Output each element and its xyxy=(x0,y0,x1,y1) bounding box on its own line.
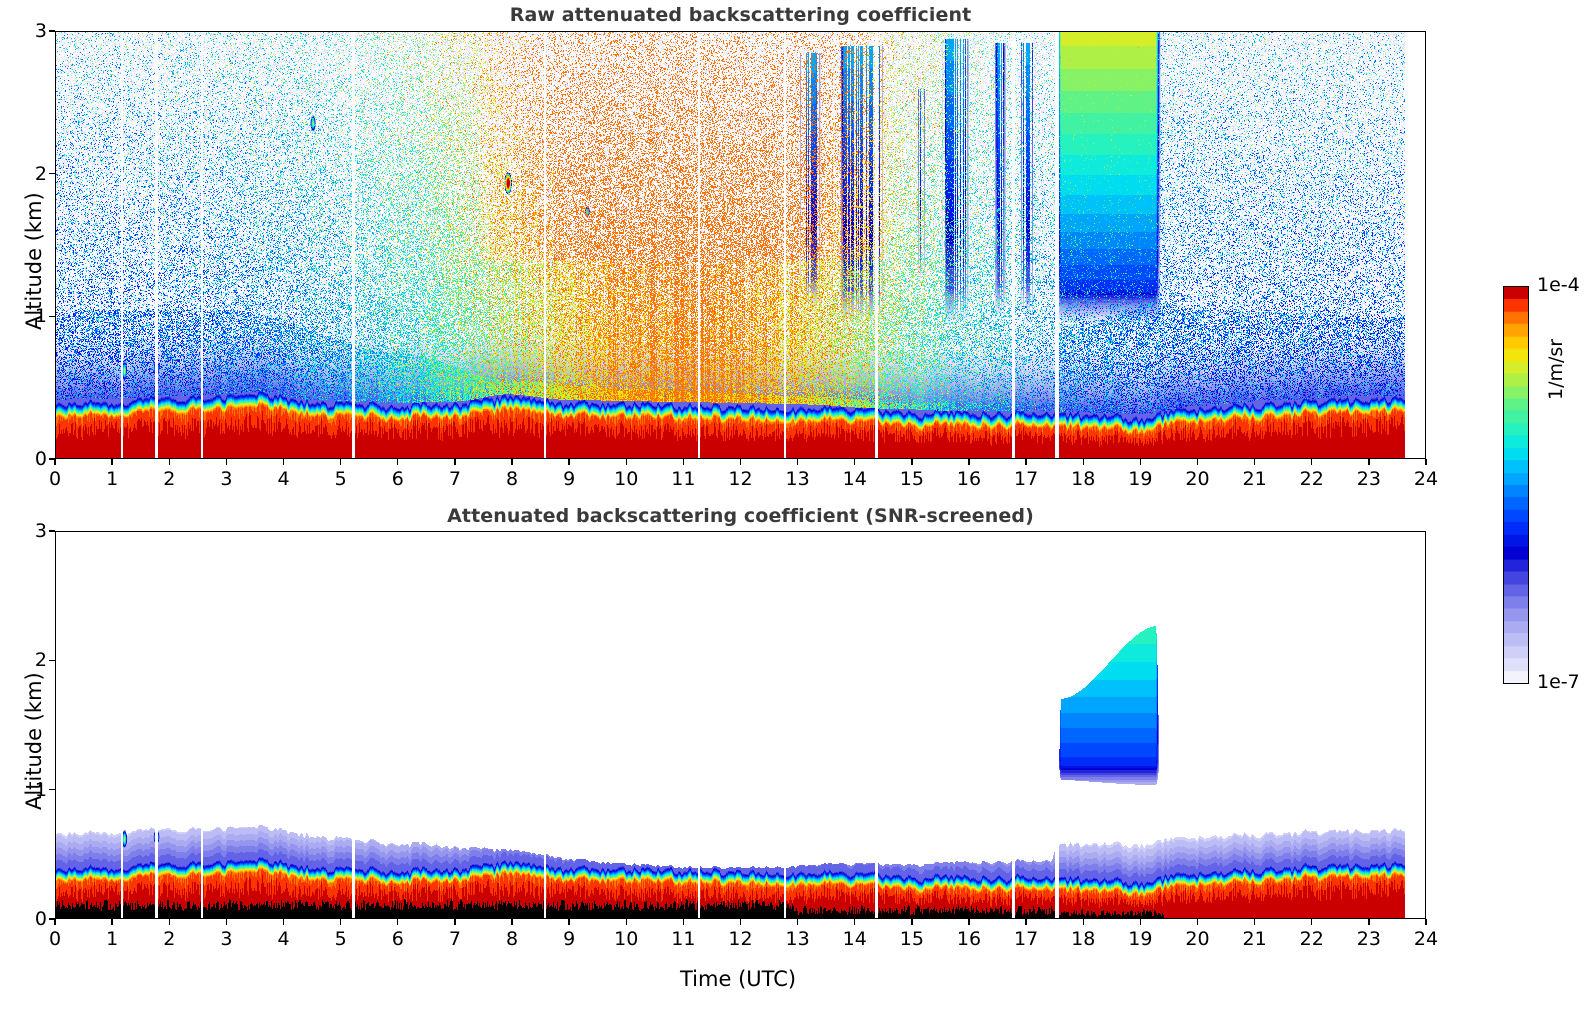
x-tick xyxy=(169,919,170,925)
y-tick-label: 2 xyxy=(17,649,47,671)
x-tick xyxy=(454,919,455,925)
y-tick xyxy=(49,530,55,531)
x-tick-label: 12 xyxy=(728,928,752,950)
x-tick xyxy=(1425,919,1426,925)
x-tick xyxy=(226,919,227,925)
colorbar-title: 1/m/sr xyxy=(1545,339,1567,400)
x-tick-label: 22 xyxy=(1300,928,1324,950)
x-tick xyxy=(968,919,969,925)
x-tick-label: 12 xyxy=(728,468,752,490)
x-tick xyxy=(169,459,170,465)
x-tick-label: 20 xyxy=(1185,928,1209,950)
colorbar-min-label: 1e-7 xyxy=(1537,671,1580,693)
x-tick xyxy=(1197,459,1198,465)
panel-title-screened: Attenuated backscattering coefficient (S… xyxy=(55,505,1426,527)
x-tick-label: 7 xyxy=(449,928,461,950)
x-tick-label: 10 xyxy=(614,928,638,950)
x-tick-label: 8 xyxy=(506,468,518,490)
x-tick-label: 0 xyxy=(49,928,61,950)
x-tick xyxy=(283,459,284,465)
x-tick xyxy=(1425,459,1426,465)
x-tick-label: 22 xyxy=(1300,468,1324,490)
plot-area-screened[interactable] xyxy=(55,531,1426,919)
y-tick xyxy=(49,30,55,31)
x-tick xyxy=(111,919,112,925)
x-tick-label: 3 xyxy=(220,928,232,950)
x-tick xyxy=(511,459,512,465)
x-tick-label: 4 xyxy=(277,928,289,950)
x-tick-label: 15 xyxy=(900,928,924,950)
x-tick xyxy=(1197,919,1198,925)
y-axis-label-screened: Altitude (km) xyxy=(22,672,46,810)
x-tick-label: 6 xyxy=(392,468,404,490)
x-tick xyxy=(911,919,912,925)
x-tick-label: 21 xyxy=(1243,468,1267,490)
figure-canvas: Raw attenuated backscattering coefficien… xyxy=(0,0,1595,1020)
x-axis-label: Time (UTC) xyxy=(680,967,796,991)
x-tick-label: 18 xyxy=(1071,928,1095,950)
x-tick-label: 16 xyxy=(957,928,981,950)
x-tick xyxy=(1254,459,1255,465)
x-tick xyxy=(1311,459,1312,465)
x-tick-label: 17 xyxy=(1014,928,1038,950)
x-tick xyxy=(340,919,341,925)
x-tick-label: 13 xyxy=(786,468,810,490)
colorbar[interactable]: 1e-4 1e-7 xyxy=(1503,286,1529,684)
x-tick xyxy=(111,459,112,465)
y-tick-label: 0 xyxy=(17,448,47,470)
x-tick-label: 23 xyxy=(1357,928,1381,950)
x-tick xyxy=(911,459,912,465)
x-tick xyxy=(454,459,455,465)
x-tick-label: 1 xyxy=(106,928,118,950)
x-tick-label: 9 xyxy=(563,928,575,950)
x-tick-label: 4 xyxy=(277,468,289,490)
x-tick xyxy=(797,919,798,925)
x-tick xyxy=(1368,459,1369,465)
x-tick xyxy=(1140,459,1141,465)
x-tick-label: 5 xyxy=(335,928,347,950)
heatmap-screened xyxy=(56,532,1426,919)
x-tick xyxy=(740,919,741,925)
x-tick-label: 11 xyxy=(671,928,695,950)
x-tick xyxy=(968,459,969,465)
y-tick xyxy=(49,173,55,174)
x-tick-label: 14 xyxy=(843,928,867,950)
x-tick-label: 19 xyxy=(1128,928,1152,950)
x-tick xyxy=(1254,919,1255,925)
x-tick xyxy=(1083,919,1084,925)
heatmap-raw xyxy=(56,32,1426,459)
x-tick xyxy=(854,459,855,465)
x-tick-label: 0 xyxy=(49,468,61,490)
plot-area-raw[interactable] xyxy=(55,31,1426,459)
y-axis-label-raw: Altitude (km) xyxy=(22,192,46,330)
x-tick xyxy=(1083,459,1084,465)
y-tick-label: 3 xyxy=(17,20,47,42)
x-tick-label: 16 xyxy=(957,468,981,490)
x-tick xyxy=(740,459,741,465)
y-tick xyxy=(49,918,55,919)
x-tick-label: 9 xyxy=(563,468,575,490)
x-tick-label: 5 xyxy=(335,468,347,490)
x-tick-label: 18 xyxy=(1071,468,1095,490)
x-tick xyxy=(511,919,512,925)
x-tick-label: 14 xyxy=(843,468,867,490)
x-tick-label: 19 xyxy=(1128,468,1152,490)
x-tick xyxy=(568,459,569,465)
y-tick-label: 2 xyxy=(17,163,47,185)
x-tick-label: 10 xyxy=(614,468,638,490)
x-tick xyxy=(568,919,569,925)
x-tick xyxy=(397,459,398,465)
x-tick-label: 8 xyxy=(506,928,518,950)
y-tick-label: 0 xyxy=(17,908,47,930)
x-tick xyxy=(854,919,855,925)
x-tick xyxy=(54,919,55,925)
x-tick xyxy=(797,459,798,465)
y-tick xyxy=(49,458,55,459)
x-tick xyxy=(340,459,341,465)
x-tick xyxy=(397,919,398,925)
y-tick xyxy=(49,316,55,317)
x-tick-label: 3 xyxy=(220,468,232,490)
x-tick-label: 1 xyxy=(106,468,118,490)
x-tick xyxy=(1368,919,1369,925)
panel-title-raw: Raw attenuated backscattering coefficien… xyxy=(55,4,1426,26)
x-tick xyxy=(1025,459,1026,465)
x-tick xyxy=(226,459,227,465)
x-tick xyxy=(283,919,284,925)
colorbar-gradient xyxy=(1503,286,1529,684)
x-tick xyxy=(1025,919,1026,925)
x-tick xyxy=(683,459,684,465)
x-tick xyxy=(1140,919,1141,925)
colorbar-max-label: 1e-4 xyxy=(1537,274,1580,296)
x-tick xyxy=(54,459,55,465)
x-tick xyxy=(1311,919,1312,925)
x-tick xyxy=(626,459,627,465)
x-tick-label: 6 xyxy=(392,928,404,950)
y-tick xyxy=(49,660,55,661)
x-tick xyxy=(683,919,684,925)
x-tick-label: 20 xyxy=(1185,468,1209,490)
x-tick-label: 17 xyxy=(1014,468,1038,490)
x-tick-label: 2 xyxy=(163,468,175,490)
x-tick-label: 15 xyxy=(900,468,924,490)
x-tick xyxy=(626,919,627,925)
x-tick-label: 7 xyxy=(449,468,461,490)
x-tick-label: 13 xyxy=(786,928,810,950)
x-tick-label: 24 xyxy=(1414,468,1438,490)
x-tick-label: 11 xyxy=(671,468,695,490)
y-tick xyxy=(49,789,55,790)
y-tick-label: 3 xyxy=(17,520,47,542)
x-tick-label: 2 xyxy=(163,928,175,950)
x-tick-label: 24 xyxy=(1414,928,1438,950)
x-tick-label: 23 xyxy=(1357,468,1381,490)
x-tick-label: 21 xyxy=(1243,928,1267,950)
